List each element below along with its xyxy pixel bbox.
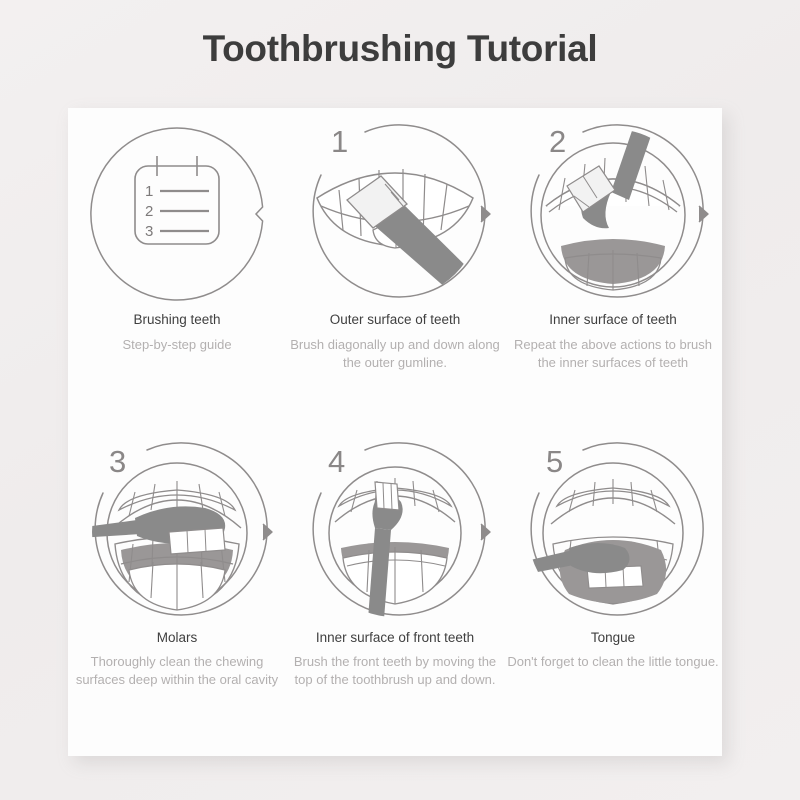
- step-title: Tongue: [591, 630, 635, 645]
- step-description: Brush the front teeth by moving the top …: [288, 653, 503, 690]
- mouth-inner-surface-icon: 2: [513, 114, 713, 314]
- clipboard-checklist-icon: 1 2 3: [77, 114, 277, 314]
- clipboard-line-number-3: 3: [145, 223, 153, 240]
- step-number: 2: [549, 124, 566, 159]
- clipboard-line-number-2: 2: [145, 203, 153, 220]
- step-panel-inner-surface[interactable]: 2: [504, 108, 722, 432]
- step-title: Inner surface of teeth: [549, 312, 677, 327]
- step-description: Don't forget to clean the little tongue.: [506, 653, 721, 671]
- step-title: Molars: [157, 630, 198, 645]
- step-panel-brushing-teeth[interactable]: 1 2 3 Brushing teeth Step-by-step guide: [68, 108, 286, 432]
- step-number: 4: [328, 444, 345, 479]
- tutorial-card: 1 2 3 Brushing teeth Step-by-step guide: [68, 108, 722, 756]
- step-number: 1: [331, 124, 348, 159]
- mouth-molars-icon: 3: [77, 432, 277, 632]
- step-description: Step-by-step guide: [70, 336, 285, 354]
- step-panel-outer-surface[interactable]: 1: [286, 108, 504, 432]
- step-number: 3: [109, 444, 126, 479]
- mouth-tongue-icon: 5: [513, 432, 713, 632]
- steps-grid: 1 2 3 Brushing teeth Step-by-step guide: [68, 108, 722, 756]
- step-panel-front-teeth[interactable]: 4: [286, 432, 504, 756]
- step-title: Outer surface of teeth: [330, 312, 461, 327]
- step-description: Brush diagonally up and down along the o…: [288, 336, 503, 373]
- step-description: Repeat the above actions to brush the in…: [506, 336, 721, 373]
- step-panel-molars[interactable]: 3: [68, 432, 286, 756]
- clipboard-line-number-1: 1: [145, 183, 153, 200]
- infographic-root: Toothbrushing Tutorial 1: [0, 0, 800, 800]
- step-description: Thoroughly clean the chewing surfaces de…: [70, 653, 285, 690]
- step-panel-tongue[interactable]: 5: [504, 432, 722, 756]
- step-number: 5: [546, 444, 563, 479]
- mouth-outer-surface-icon: 1: [295, 114, 495, 314]
- step-title: Brushing teeth: [133, 312, 220, 327]
- mouth-front-teeth-icon: 4: [295, 432, 495, 632]
- step-title: Inner surface of front teeth: [316, 630, 474, 645]
- page-title: Toothbrushing Tutorial: [0, 28, 800, 70]
